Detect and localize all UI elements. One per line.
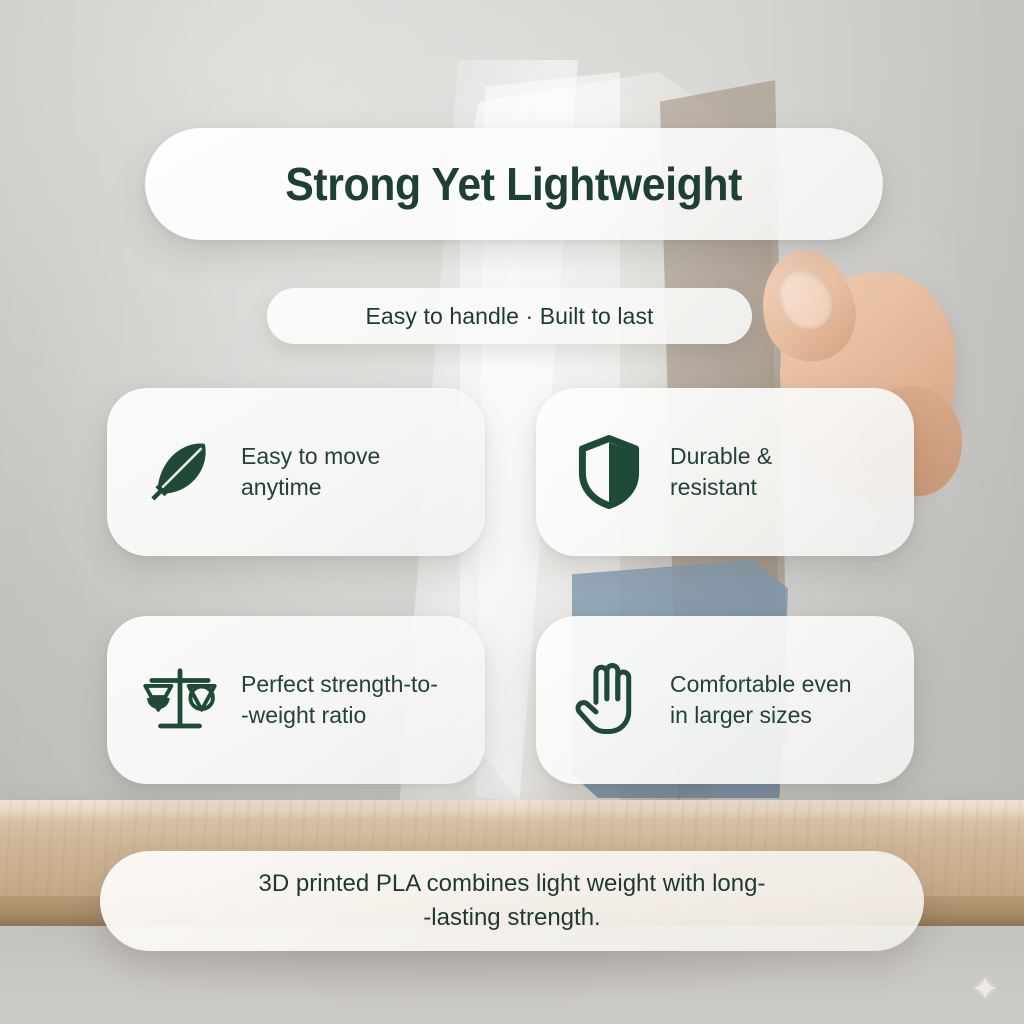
feature-line-2: in larger sizes (670, 700, 852, 731)
feature-card-easy-to-move[interactable]: Easy to move anytime (107, 388, 485, 556)
feature-line-2: -weight ratio (241, 700, 438, 731)
footer-pill: 3D printed PLA combines light weight wit… (100, 851, 924, 951)
scales-icon (141, 661, 219, 739)
feature-line-1: Comfortable even (670, 669, 852, 700)
infographic-overlay: Strong Yet Lightweight Easy to handle · … (0, 0, 1024, 1024)
hand-icon (570, 661, 648, 739)
feature-card-label: Comfortable even in larger sizes (670, 669, 852, 730)
feature-card-label: Easy to move anytime (241, 441, 380, 502)
feather-icon (141, 433, 219, 511)
shield-icon (570, 433, 648, 511)
feature-line-1: Durable & (670, 441, 772, 472)
footer-line-2: -lasting strength. (259, 901, 766, 935)
feature-card-comfortable[interactable]: Comfortable even in larger sizes (536, 616, 914, 784)
feature-card-label: Perfect strength-to- -weight ratio (241, 669, 438, 730)
feature-card-durable[interactable]: Durable & resistant (536, 388, 914, 556)
feature-line-2: resistant (670, 472, 772, 503)
footer-line-1: 3D printed PLA combines light weight wit… (259, 867, 766, 901)
feature-line-2: anytime (241, 472, 380, 503)
feature-line-1: Easy to move (241, 441, 380, 472)
feature-card-label: Durable & resistant (670, 441, 772, 502)
footer-caption: 3D printed PLA combines light weight wit… (259, 867, 766, 935)
feature-line-1: Perfect strength-to- (241, 669, 438, 700)
feature-card-strength-to-weight[interactable]: Perfect strength-to- -weight ratio (107, 616, 485, 784)
